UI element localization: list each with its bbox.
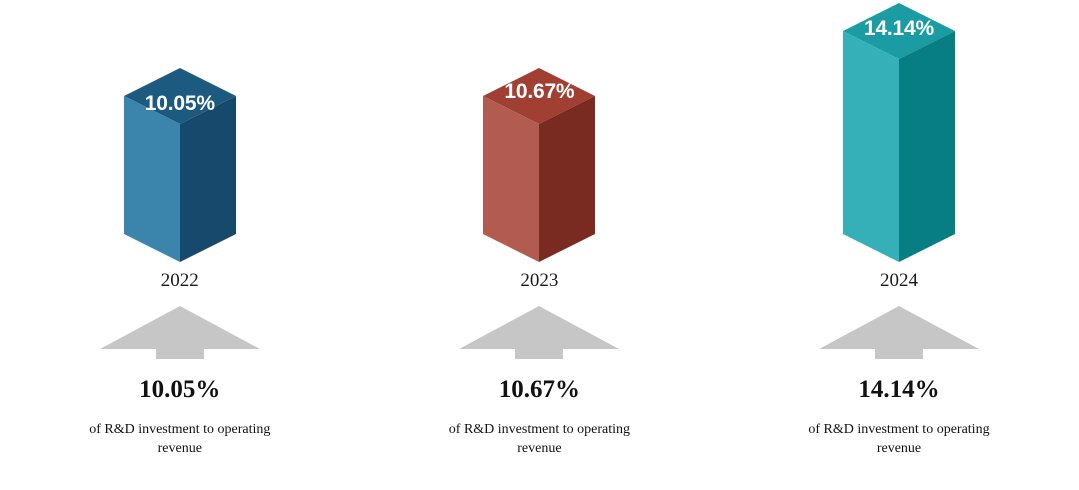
arrow-up-icon bbox=[99, 304, 261, 359]
stat-caption-line2: revenue bbox=[360, 440, 720, 459]
bar-zone-2023: 10.67% bbox=[360, 0, 720, 268]
bar-left-face bbox=[124, 96, 180, 262]
year-label-2024: 2024 bbox=[719, 270, 1079, 292]
bar-3d-2023[interactable] bbox=[474, 68, 604, 268]
bar-right-face bbox=[180, 96, 236, 262]
stat-caption-2024: of R&D investment to operating revenue bbox=[719, 421, 1079, 459]
year-label-2023: 2023 bbox=[360, 270, 720, 292]
bar-zone-2022: 10.05% bbox=[0, 0, 360, 268]
stat-caption-2022: of R&D investment to operating revenue bbox=[0, 421, 360, 459]
bar-3d-2024[interactable] bbox=[834, 3, 964, 268]
stat-caption-2023: of R&D investment to operating revenue bbox=[360, 421, 720, 459]
stat-caption-line2: revenue bbox=[719, 440, 1079, 459]
stat-caption-line2: revenue bbox=[0, 440, 360, 459]
infographic-canvas: 10.05% 2022 10.05% of R&D investment to … bbox=[0, 0, 1079, 490]
bar-3d-2022[interactable] bbox=[115, 68, 245, 268]
bar-zone-2024: 14.14% bbox=[719, 0, 1079, 268]
bar-3d-shape-2022 bbox=[115, 68, 245, 268]
bar-left-face bbox=[483, 96, 539, 262]
metric-column-2023: 10.67% 2023 10.67% of R&D investment to … bbox=[360, 0, 720, 490]
stat-value-2024: 14.14% bbox=[719, 376, 1079, 404]
bar-left-face bbox=[843, 31, 899, 262]
arrow-up-icon bbox=[458, 304, 620, 359]
metric-column-2022: 10.05% 2022 10.05% of R&D investment to … bbox=[0, 0, 360, 490]
year-label-2022: 2022 bbox=[0, 270, 360, 292]
stat-caption-line1: of R&D investment to operating bbox=[360, 421, 720, 440]
arrow-up-2023 bbox=[360, 304, 720, 359]
stat-value-2023: 10.67% bbox=[360, 376, 720, 404]
bar-right-face bbox=[899, 31, 955, 262]
stat-caption-line1: of R&D investment to operating bbox=[0, 421, 360, 440]
bar-3d-shape-2024 bbox=[834, 3, 964, 268]
bar-3d-shape-2023 bbox=[474, 68, 604, 268]
bar-right-face bbox=[539, 96, 595, 262]
stat-caption-line1: of R&D investment to operating bbox=[719, 421, 1079, 440]
arrow-up-2024 bbox=[719, 304, 1079, 359]
stat-value-2022: 10.05% bbox=[0, 376, 360, 404]
metric-column-2024: 14.14% 2024 14.14% of R&D investment to … bbox=[719, 0, 1079, 490]
arrow-up-icon bbox=[818, 304, 980, 359]
arrow-up-2022 bbox=[0, 304, 360, 359]
